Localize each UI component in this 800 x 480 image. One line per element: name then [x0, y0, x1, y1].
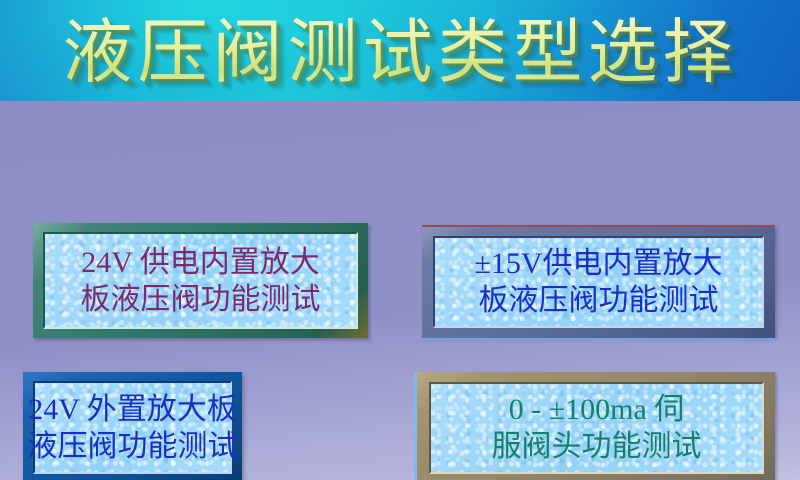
button-screen: 24V 供电内置放大 板液压阀功能测试: [43, 232, 358, 329]
button-label-line1: 0 - ±100ma 伺: [509, 391, 685, 428]
button-screen: 0 - ±100ma 伺 服阀头功能测试: [429, 382, 764, 474]
content-area: 24V 供电内置放大 板液压阀功能测试 ±15V供电内置放大 板液压阀功能测试 …: [0, 101, 800, 480]
test-type-button-24v-external-amplifier[interactable]: 24V 外置放大板 液压阀功能测试: [23, 372, 242, 480]
button-label-line1: ±15V供电内置放大: [474, 245, 722, 282]
test-type-button-pm15v-builtin-amplifier[interactable]: ±15V供电内置放大 板液压阀功能测试: [422, 225, 775, 338]
button-bezel: 0 - ±100ma 伺 服阀头功能测试: [417, 372, 775, 480]
page-title: 液压阀测试类型选择: [0, 6, 800, 98]
button-label-line2: 板液压阀功能测试: [479, 282, 719, 319]
button-label-line1: 24V 外置放大板: [28, 391, 237, 428]
title-banner: 液压阀测试类型选择: [0, 0, 800, 101]
button-label-line1: 24V 供电内置放大: [81, 244, 320, 281]
test-type-button-24v-builtin-amplifier[interactable]: 24V 供电内置放大 板液压阀功能测试: [33, 223, 368, 338]
button-bezel: ±15V供电内置放大 板液压阀功能测试: [422, 225, 775, 338]
button-label-line2: 板液压阀功能测试: [81, 281, 321, 318]
button-bezel: 24V 供电内置放大 板液压阀功能测试: [33, 223, 368, 338]
button-label-line2: 服阀头功能测试: [492, 428, 702, 465]
button-label-line2: 液压阀功能测试: [28, 428, 238, 465]
test-type-button-servo-valve-head[interactable]: 0 - ±100ma 伺 服阀头功能测试: [417, 372, 775, 480]
button-screen: ±15V供电内置放大 板液压阀功能测试: [433, 236, 764, 328]
button-screen: 24V 外置放大板 液压阀功能测试: [33, 381, 232, 474]
hydraulic-valve-test-selection-screen: 液压阀测试类型选择 24V 供电内置放大 板液压阀功能测试 ±15V供电内置放大…: [0, 0, 800, 480]
button-bezel: 24V 外置放大板 液压阀功能测试: [23, 372, 242, 480]
